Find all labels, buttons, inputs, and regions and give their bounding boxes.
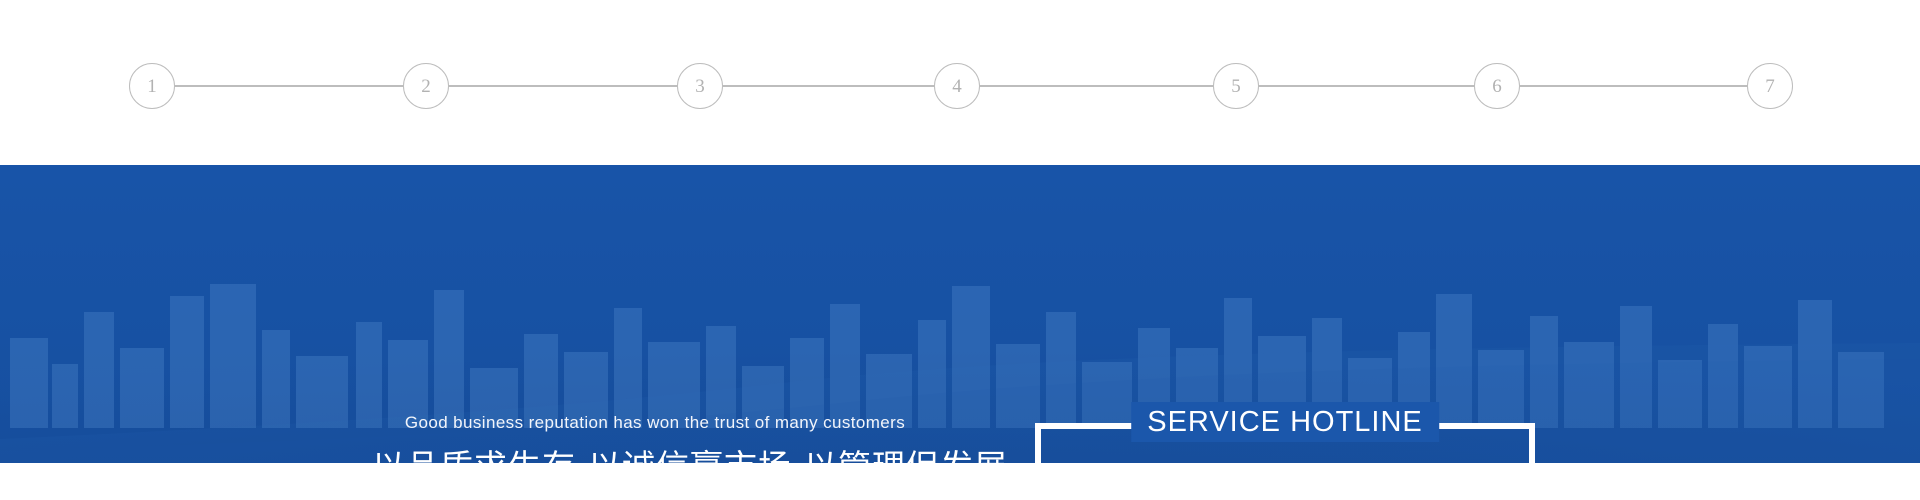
page-root: 1 2 3 4 5 6 7 xyxy=(0,0,1920,500)
slogan-english: Good business reputation has won the tru… xyxy=(372,413,938,433)
step-label-7: 7 xyxy=(1765,77,1775,96)
step-label-4: 4 xyxy=(952,77,962,96)
step-circle-1[interactable]: 1 xyxy=(129,63,175,109)
slogan-block: Good business reputation has won the tru… xyxy=(372,413,938,463)
step-circle-7[interactable]: 7 xyxy=(1747,63,1793,109)
step-circle-2[interactable]: 2 xyxy=(403,63,449,109)
hotline-title: SERVICE HOTLINE xyxy=(1131,402,1439,442)
step-circle-3[interactable]: 3 xyxy=(677,63,723,109)
step-circle-4[interactable]: 4 xyxy=(934,63,980,109)
step-indicator: 1 2 3 4 5 6 7 xyxy=(0,0,1920,165)
step-circle-6[interactable]: 6 xyxy=(1474,63,1520,109)
slogan-chinese-main: 以品质求生存·以诚信赢市场·以管理促发展 xyxy=(372,448,938,463)
hotline-box: SERVICE HOTLINE 服务热线： 183-2660-0068 0551… xyxy=(1035,423,1535,463)
step-label-3: 3 xyxy=(695,77,705,96)
step-circle-5[interactable]: 5 xyxy=(1213,63,1259,109)
step-label-2: 2 xyxy=(421,77,431,96)
road-graphic-icon xyxy=(0,343,1920,463)
step-label-6: 6 xyxy=(1492,77,1502,96)
step-label-1: 1 xyxy=(147,77,157,96)
step-label-5: 5 xyxy=(1231,77,1241,96)
promo-banner: Good business reputation has won the tru… xyxy=(0,165,1920,463)
